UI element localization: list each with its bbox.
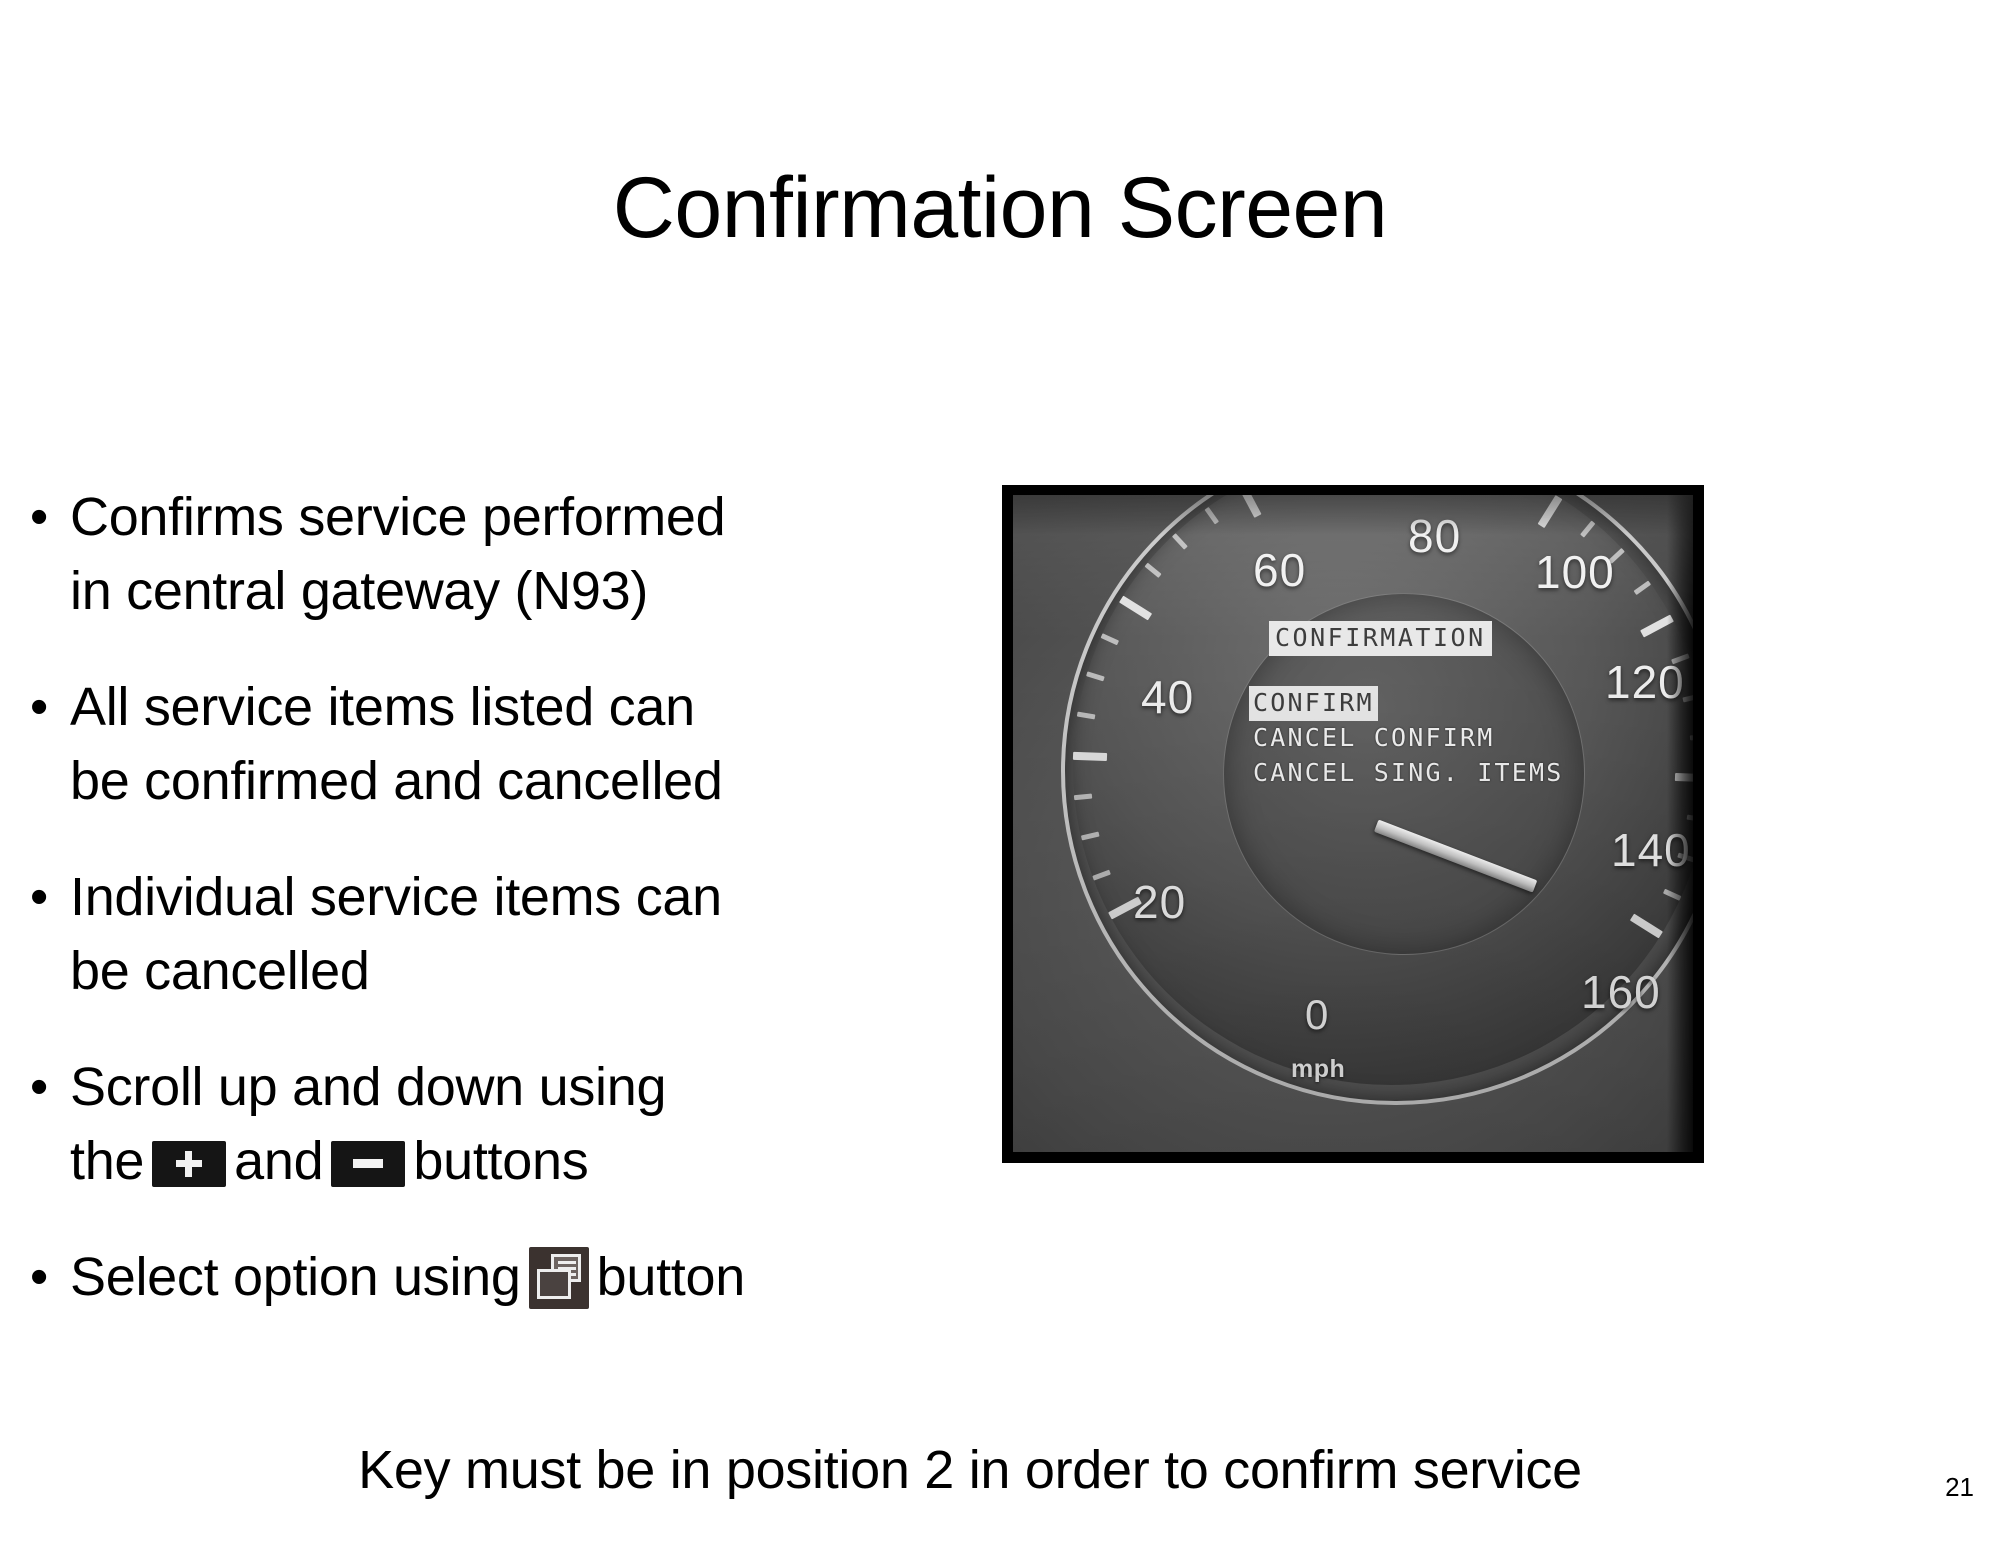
list-item: • Scroll up and down using theandbuttons — [30, 1050, 960, 1198]
bullet-marker-icon: • — [30, 480, 70, 554]
dial-number-0: 0 — [1305, 991, 1329, 1039]
bullet-text-fragment: the — [70, 1131, 144, 1191]
bullet-text: Individual service items can be cancelle… — [70, 860, 960, 1008]
instrument-cluster-photo: 0 20 40 60 80 100 120 140 160 mph CONFIR… — [1003, 486, 1703, 1162]
bullet-marker-icon: • — [30, 1050, 70, 1124]
bullet-list: • Confirms service performed in central … — [30, 480, 960, 1356]
bullet-text-fragment: buttons — [413, 1131, 588, 1191]
speedometer-gauge: 0 20 40 60 80 100 120 140 160 mph CONFIR… — [1013, 495, 1693, 1152]
dial-number-60: 60 — [1253, 543, 1306, 597]
dial-number-20: 20 — [1133, 875, 1186, 929]
bullet-line-with-icons: Select option usingbutton — [70, 1240, 960, 1314]
bullet-text-fragment: Select option using — [70, 1247, 521, 1307]
bullet-line: be cancelled — [70, 934, 960, 1008]
bullet-line: in central gateway (N93) — [70, 554, 960, 628]
bullet-line: be confirmed and cancelled — [70, 744, 960, 818]
lcd-header: CONFIRMATION — [1269, 621, 1492, 656]
list-item: • Individual service items can be cancel… — [30, 860, 960, 1008]
list-item: • Select option usingbutton — [30, 1240, 960, 1314]
plus-button-icon[interactable] — [152, 1141, 226, 1187]
lcd-menu: CONFIRM CANCEL CONFIRM CANCEL SING. ITEM… — [1249, 686, 1579, 791]
bullet-marker-icon: • — [30, 670, 70, 744]
list-item: • Confirms service performed in central … — [30, 480, 960, 628]
bullet-line: All service items listed can — [70, 670, 960, 744]
bullet-text: Select option usingbutton — [70, 1240, 960, 1314]
page-title: Confirmation Screen — [0, 165, 2000, 251]
dial-number-100: 100 — [1535, 545, 1615, 599]
minus-button-icon[interactable] — [331, 1141, 405, 1187]
bullet-line: Confirms service performed — [70, 480, 960, 554]
select-icon-front-window — [537, 1269, 571, 1299]
minus-horizontal-bar — [353, 1159, 383, 1168]
lcd-display: CONFIRMATION CONFIRM CANCEL CONFIRM CANC… — [1249, 621, 1579, 791]
lcd-menu-item-confirm[interactable]: CONFIRM — [1249, 686, 1378, 721]
bullet-line: Individual service items can — [70, 860, 960, 934]
dial-tick-major — [1073, 752, 1107, 761]
bullet-text-fragment: button — [597, 1247, 745, 1307]
unit-label-mph: mph — [1291, 1055, 1345, 1084]
bullet-line-with-icons: theandbuttons — [70, 1124, 960, 1198]
photo-right-shadow — [1667, 495, 1693, 1152]
photo-top-shadow — [1013, 495, 1693, 535]
bullet-text: Confirms service performed in central ga… — [70, 480, 960, 628]
dial-number-160: 160 — [1581, 965, 1661, 1019]
bullet-marker-icon: • — [30, 860, 70, 934]
lcd-menu-item-cancel-confirm[interactable]: CANCEL CONFIRM — [1249, 721, 1579, 756]
bullet-marker-icon: • — [30, 1240, 70, 1314]
select-icon-line — [558, 1261, 576, 1264]
list-item: • All service items listed can be confir… — [30, 670, 960, 818]
dial-number-40: 40 — [1141, 670, 1194, 724]
select-window-button-icon[interactable] — [529, 1247, 589, 1309]
page-number: 21 — [1945, 1472, 1974, 1503]
plus-vertical-bar — [185, 1151, 192, 1177]
bullet-text: All service items listed can be confirme… — [70, 670, 960, 818]
bullet-line: Scroll up and down using — [70, 1050, 960, 1124]
bullet-text: Scroll up and down using theandbuttons — [70, 1050, 960, 1198]
bullet-text-fragment: and — [234, 1131, 323, 1191]
lcd-menu-item-cancel-sing-items[interactable]: CANCEL SING. ITEMS — [1249, 756, 1579, 791]
footer-note: Key must be in position 2 in order to co… — [0, 1435, 1940, 1505]
